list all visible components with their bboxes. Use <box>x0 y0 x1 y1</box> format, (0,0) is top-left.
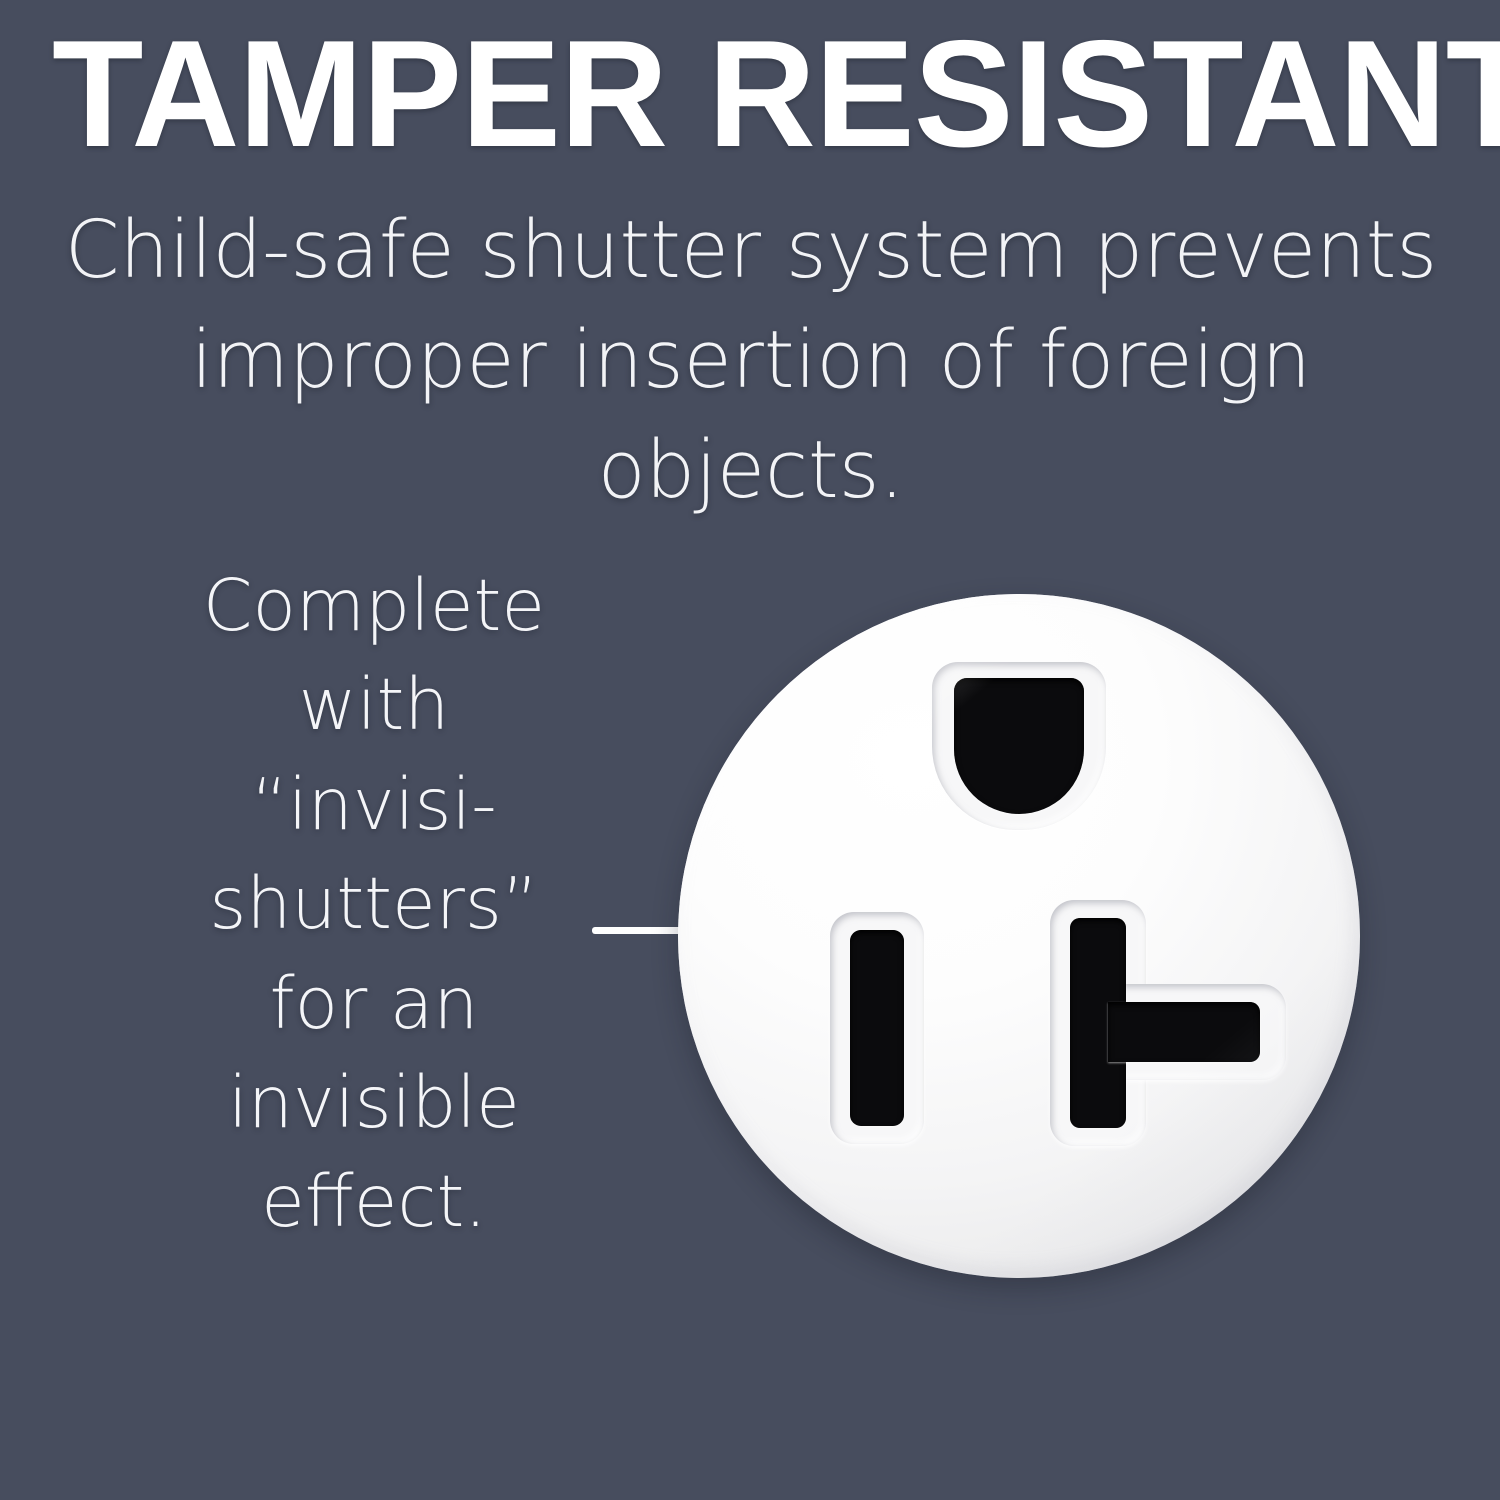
callout-line-5: for an <box>148 954 600 1053</box>
ground-slot-icon <box>954 678 1084 814</box>
callout-line-7: effect. <box>148 1152 600 1251</box>
callout-line-3: “invisi- <box>148 755 600 854</box>
callout-text: Complete with “invisi- shutters” for an … <box>148 556 600 1252</box>
callout-line-4: shutters” <box>148 854 600 953</box>
callout-line-1: Complete <box>148 556 600 655</box>
infographic-canvas: TAMPER RESISTANT. Child-safe shutter sys… <box>0 0 1500 1500</box>
hot-slot-icon-horizontal <box>1108 1002 1260 1062</box>
callout-line-6: invisible <box>148 1053 600 1152</box>
electrical-outlet-face <box>678 594 1360 1278</box>
subheadline-line-1: Child-safe shutter system prevents <box>41 196 1461 306</box>
neutral-slot-icon <box>850 930 904 1126</box>
page-title: TAMPER RESISTANT. <box>52 18 1441 170</box>
subheadline-line-2: improper insertion of foreign objects. <box>41 306 1461 526</box>
subheadline: Child-safe shutter system prevents impro… <box>34 196 1468 525</box>
callout-line-2: with <box>148 655 600 754</box>
